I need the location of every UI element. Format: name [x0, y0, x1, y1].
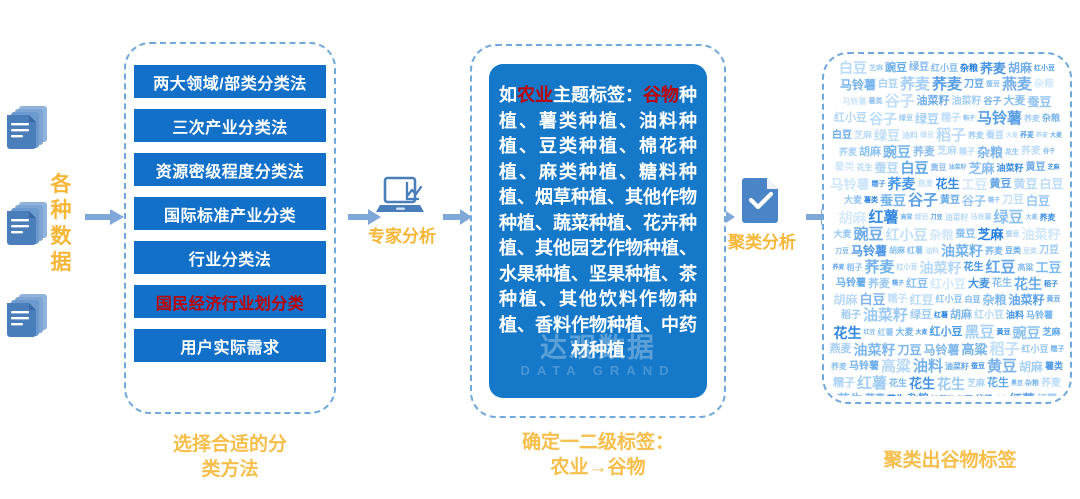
cloud-word: 黄豆 [987, 358, 1017, 375]
cloud-word: 绿豆 [914, 213, 928, 222]
cloud-word: 胡麻 [889, 246, 905, 256]
cloud-word: 油菜籽 [941, 243, 983, 259]
cloud-word: 豌豆 [1013, 325, 1041, 341]
cloud-word: 花生 [992, 278, 1012, 290]
label-text-segment-1: 农业 [517, 85, 553, 105]
cloud-word: 胡麻 [1019, 360, 1043, 374]
cloud-word: 大麦 [844, 195, 862, 206]
cloud-word: 油菜籽 [948, 164, 966, 172]
diagram-canvas: 各 种 数 据 两大领域/部类分类法三次产业分类法资源密级程度分类法国际标准产业… [0, 0, 1080, 499]
cloud-word: 谷子 [869, 111, 897, 127]
cloud-word: 黄豆 [930, 163, 946, 173]
cloud-word: 花生 [833, 325, 861, 341]
cloud-word: 糯子 [887, 294, 907, 306]
cloud-word: 刀豆 [930, 214, 942, 222]
cloud-word: 马铃薯 [1026, 310, 1053, 321]
cloud-word: 大麦 [1050, 132, 1062, 140]
cloud-word: 花生 [856, 163, 872, 173]
left-panel-caption: 选择合适的分类方法 [120, 432, 340, 482]
cloud-word: 红小豆 [834, 112, 867, 125]
label-text-segment-3: 谷物 [643, 85, 679, 105]
cloud-word: 谷子 [1043, 148, 1055, 156]
cloud-word: 绿豆 [920, 131, 934, 140]
cloud-word: 白豆 [839, 60, 867, 76]
cloud-word: 荞麦 [968, 131, 984, 141]
cloud-word: 芝麻 [978, 227, 1004, 242]
method-button-label: 资源密级程度分类法 [156, 158, 305, 182]
cloud-word: 糯子 [941, 113, 961, 125]
cloud-word: 糯子 [988, 197, 1000, 205]
cloud-word: 燕麦 [1002, 76, 1032, 93]
clustering-analysis-step: 聚类分析 [722, 176, 802, 253]
cloud-word: 刀豆 [964, 79, 984, 91]
cloud-word: 红薯 [907, 246, 923, 256]
cloud-word: 花生 [935, 177, 959, 191]
caption-line: 确定一二级标签： [522, 432, 674, 453]
cloud-word: 薯类 [868, 97, 882, 106]
cloud-word: 大麦 [895, 327, 913, 338]
cloud-word: 白豆 [965, 295, 981, 305]
cloud-word: 马铃薯 [977, 110, 1022, 127]
cloud-word: 大麦 [1004, 95, 1026, 108]
cloud-word: 马铃薯 [971, 213, 992, 222]
cloud-word: 黄豆 [990, 178, 1012, 191]
cloud-word: 刀豆 [1039, 245, 1059, 257]
cloud-word: 花生 [837, 392, 863, 396]
cloud-word: 红小豆 [885, 227, 927, 243]
cloud-word: 蚕豆 [986, 130, 1004, 141]
cloud-word: 白豆 [1040, 177, 1064, 191]
cloud-word: 杂粮 [1042, 113, 1060, 124]
cloud-word: 荞麦 [868, 278, 890, 291]
label-text-segment-2: 主题标签： [553, 85, 643, 105]
caption-line: 类方法 [201, 459, 258, 480]
cloud-word: 大麦 [1026, 214, 1038, 222]
method-button-6[interactable]: 用户实际需求 [134, 329, 326, 362]
cloud-word: 花生 [889, 378, 907, 389]
method-button-label: 行业分类法 [189, 246, 272, 270]
cloud-word: 燕麦 [917, 179, 933, 189]
cloud-word: 豌豆 [883, 144, 911, 160]
cloud-word: 红小豆 [1022, 344, 1049, 355]
cloud-word: 薯类 [864, 196, 878, 205]
method-button-label: 国际标准产业分类 [164, 202, 296, 226]
cloud-word: 胡麻 [859, 146, 881, 159]
flow-arrow-icon [443, 207, 473, 227]
cloud-word: 红薯 [857, 375, 887, 392]
cloud-word: 花生 [909, 376, 935, 391]
cloud-word: 油菜籽 [945, 213, 969, 223]
cloud-word: 红小豆 [897, 263, 918, 272]
cloud-word: 马铃薯 [851, 244, 887, 258]
cloud-word: 荞麦 [839, 147, 857, 158]
method-button-5[interactable]: 国民经济行业划分类 [134, 285, 326, 318]
cloud-word: 红薯 [868, 209, 898, 226]
cloud-word: 糯子 [833, 377, 855, 390]
cloud-word: 芝麻 [854, 130, 872, 141]
cloud-word: 荞麦 [1036, 132, 1048, 140]
cloud-word: 蚕豆 [874, 161, 898, 175]
cloud-word: 荞麦 [831, 362, 847, 372]
method-button-4[interactable]: 行业分类法 [134, 241, 326, 274]
cloud-word: 花生 [1005, 148, 1019, 157]
cloud-word: 稻子 [963, 115, 975, 123]
laptop-analytics-icon [374, 176, 430, 218]
source-label-char: 数 [44, 224, 78, 250]
cloud-word: 豌豆 [853, 226, 883, 243]
method-button-0[interactable]: 两大领域/部类分类法 [134, 65, 326, 98]
cloud-word: 黑豆 [965, 324, 995, 341]
cloud-word: 芝麻 [968, 161, 994, 176]
source-data-label: 各 种 数 据 [44, 172, 78, 276]
cloud-word: 稻子 [1044, 280, 1058, 289]
source-label-char: 各 [44, 172, 78, 198]
method-button-label: 三次产业分类法 [172, 114, 288, 138]
cloud-word: 糯子 [871, 180, 885, 189]
cloud-word: 芝麻 [1048, 164, 1060, 172]
cloud-word: 油料 [925, 247, 939, 256]
label-text-segment-0: 如 [499, 85, 517, 105]
cloud-word: 杂粮 [1025, 379, 1039, 388]
cloud-word: 红小豆 [931, 63, 958, 74]
cloud-word: 红薯 [1037, 394, 1057, 397]
cloud-word: 大麦 [1006, 132, 1018, 140]
method-button-1[interactable]: 三次产业分类法 [134, 109, 326, 142]
cloud-word: 绿豆 [910, 309, 932, 322]
cloud-word: 油菜籽 [931, 395, 955, 397]
cloud-word: 红薯 [877, 328, 893, 338]
cloud-word: 白豆 [859, 292, 885, 307]
source-label-char: 种 [44, 198, 78, 224]
cloud-word: 稻子 [936, 127, 966, 144]
cloud-word: 胡麻 [833, 293, 857, 307]
cloud-word: 荞麦 [985, 246, 1003, 257]
cloud-word: 工豆 [961, 177, 987, 192]
cloud-word: 红小豆 [1034, 64, 1055, 73]
cloud-word: 绿豆 [899, 114, 913, 123]
cloud-word: 油菜籽 [1022, 227, 1061, 242]
cloud-word: 谷子 [983, 96, 1001, 107]
cloud-word: 芝麻 [937, 146, 957, 158]
documents-stack-icon [5, 292, 51, 342]
cloud-word: 芝麻 [967, 378, 985, 389]
cloud-word: 胡麻 [950, 309, 972, 322]
cloud-word: 红薯 [957, 395, 973, 397]
cloud-word: 高粱 [1018, 263, 1034, 273]
cloud-word: 刀豆 [835, 247, 849, 256]
cloud-word: 高粱 [961, 342, 987, 357]
cloud-word: 绿豆 [874, 128, 900, 143]
method-button-2[interactable]: 资源密级程度分类法 [134, 153, 326, 186]
cloud-word: 黄豆 [1047, 295, 1061, 304]
cloud-word: 荞麦 [1021, 146, 1041, 158]
method-button-list: 两大领域/部类分类法三次产业分类法资源密级程度分类法国际标准产业分类行业分类法国… [134, 65, 326, 373]
cloud-word: 荞麦 [864, 259, 894, 276]
cloud-word: 糯子 [1051, 345, 1065, 354]
cloud-word: 蚕豆 [971, 362, 985, 371]
cloud-word: 花生 [1014, 276, 1042, 292]
cloud-word: 荞麦 [832, 264, 844, 272]
cloud-word: 蚕豆 [880, 193, 906, 208]
cloud-word: 马铃薯 [836, 278, 866, 290]
cloud-word: 油菜籽 [997, 163, 1024, 174]
cloud-word: 高粱 [881, 358, 911, 375]
label-card: 如农业主题标签：谷物种植、薯类种植、油料种植、豆类种植、棉花种植、麻类种植、糖料… [489, 64, 707, 398]
cloud-word: 胡麻 [1008, 61, 1032, 75]
method-button-label: 用户实际需求 [180, 334, 279, 358]
cloud-word: 杂粮 [907, 393, 929, 396]
flow-arrow-icon [85, 207, 125, 227]
cloud-word: 绿豆 [915, 112, 939, 126]
documents-stack-icon [5, 104, 51, 154]
caption-line: 选择合适的分 [173, 434, 287, 455]
cloud-word: 红薯 [934, 311, 948, 320]
cloud-word: 红小豆 [974, 310, 1004, 322]
cloud-word: 花生 [887, 394, 905, 396]
cloud-word: 糯子 [959, 147, 975, 157]
method-button-label: 国民经济行业划分类 [156, 290, 305, 314]
cloud-word: 谷子 [908, 192, 938, 209]
cloud-word: 花生 [937, 376, 965, 392]
cloud-word: 黄豆 [997, 328, 1011, 337]
cloud-word: 谷子 [962, 194, 986, 208]
cloud-word: 油菜籽 [1009, 293, 1045, 307]
cloud-word: 红小豆 [930, 326, 963, 339]
cloud-word: 杂粮 [977, 145, 1003, 160]
cloud-word: 蚕豆 [956, 229, 976, 241]
cloud-word: 油菜籽 [920, 260, 962, 276]
cloud-word: 油料 [913, 358, 943, 375]
cloud-word: 油料 [1006, 310, 1024, 321]
cloud-word: 谷子 [975, 394, 993, 396]
cloud-word: 薯类 [834, 162, 854, 174]
clustering-analysis-label: 聚类分析 [722, 228, 802, 253]
cloud-word: 荞麦 [913, 146, 935, 159]
cloud-word: 薯类 [1045, 361, 1063, 372]
cloud-word: 油菜籽 [945, 362, 969, 372]
cloud-word: 刀豆 [897, 343, 921, 357]
expert-analysis-label: 专家分析 [362, 222, 442, 247]
cloud-word: 大麦 [915, 329, 927, 337]
cloud-word: 蚕豆 [986, 80, 1000, 89]
cloud-word: 马铃薯 [849, 361, 879, 373]
cloud-word: 稻子 [846, 263, 862, 273]
method-button-3[interactable]: 国际标准产业分类 [134, 197, 326, 230]
cloud-word: 荞麦 [1040, 213, 1056, 223]
cloud-word: 稻子 [990, 341, 1020, 358]
cloud-word: 花生 [964, 262, 984, 274]
cloud-word: 荞麦 [932, 76, 962, 93]
cloud-word: 大麦 [968, 278, 990, 291]
expert-analysis-step: 专家分析 [362, 176, 442, 247]
cloud-word: 荞麦 [1020, 131, 1034, 140]
cloud-word: 红豆 [986, 259, 1016, 276]
source-label-char: 据 [44, 250, 78, 276]
cloud-word: 荞麦 [887, 176, 915, 192]
cloud-word: 芝麻 [995, 396, 1007, 397]
cloud-word: 荞麦 [1041, 378, 1061, 390]
cloud-word: 荞麦 [980, 61, 1006, 76]
cloud-word: 黄豆 [940, 195, 960, 207]
cloud-word: 红小豆 [930, 277, 966, 291]
cloud-word: 工豆 [1036, 260, 1062, 275]
document-check-icon [740, 176, 784, 224]
cloud-word: 黑豆 [1011, 380, 1023, 388]
cloud-word: 油菜籽 [951, 96, 981, 108]
cloud-word: 高粱 [900, 214, 912, 222]
cloud-word: 红豆 [863, 329, 875, 337]
cloud-word: 荞麦 [900, 76, 930, 93]
cloud-word: 白豆 [900, 160, 928, 176]
method-button-label: 两大领域/部类分类法 [153, 70, 306, 94]
cloud-word: 杂粮 [1034, 79, 1054, 91]
label-card-text: 如农业主题标签：谷物种植、薯类种植、油料种植、豆类种植、棉花种植、麻类种植、糖料… [499, 83, 697, 364]
cloud-word: 白豆 [878, 79, 898, 91]
cloud-word: 油菜籽 [863, 307, 908, 324]
cloud-word: 豆类 [1005, 246, 1021, 256]
cloud-word: 豆类 [1023, 247, 1037, 256]
cloud-word: 豌豆 [885, 62, 907, 75]
cloud-word: 红薯 [1009, 392, 1035, 396]
cloud-word: 稻子 [841, 310, 861, 322]
cloud-word: 刀豆 [1002, 194, 1024, 207]
cloud-word: 蚕豆 [1006, 230, 1020, 239]
cloud-word: 黄豆 [1026, 162, 1046, 174]
cloud-word: 荞麦 [1024, 114, 1040, 124]
right-panel-caption: 聚类出谷物标签 [840, 448, 1060, 473]
cloud-word: 油料 [902, 131, 918, 141]
cloud-word: 蚕豆 [1028, 95, 1052, 109]
cloud-word: 绿豆 [909, 62, 929, 74]
cloud-word: 马铃薯 [842, 97, 866, 107]
label-text-segment-4: 种植、薯类种植、油料种植、豆类种植、棉花种植、麻类种植、糖料种植、烟草种植、其他… [499, 85, 697, 360]
caption-line: 农业→谷物 [550, 457, 645, 478]
cloud-word: 油菜籽 [916, 95, 949, 108]
cloud-word: 芝麻 [869, 64, 883, 73]
cloud-word: 绿豆 [994, 209, 1024, 226]
cloud-word: 红小豆 [936, 294, 963, 305]
cloud-word: 谷子 [884, 93, 914, 110]
cloud-word: 花生 [987, 377, 1009, 390]
watermark-subtext: DATA GRAND [489, 363, 707, 378]
cloud-word: 胡麻 [838, 210, 866, 226]
cloud-word: 糯子 [892, 280, 904, 288]
cloud-word: 芝麻 [1043, 327, 1061, 338]
cloud-word: 黄豆 [1014, 177, 1038, 191]
cloud-word: 大麦 [833, 229, 851, 240]
cloud-word: 荞麦 [865, 394, 885, 397]
cloud-word: 马铃薯 [830, 177, 869, 192]
cloud-word: 红豆 [906, 278, 928, 291]
cloud-word: 马铃薯 [923, 343, 959, 357]
grain-word-cloud: 白豆芝麻豌豆绿豆红小豆杂粮荞麦胡麻红小豆马铃薯白豆荞麦荞麦刀豆蚕豆燕麦杂粮马铃薯… [828, 60, 1066, 396]
cloud-word: 白豆 [1026, 194, 1050, 208]
cloud-word: 杂粮 [983, 293, 1007, 307]
cloud-word: 杂粮 [960, 63, 978, 74]
cloud-word: 红豆 [909, 293, 933, 307]
cloud-word: 燕麦 [829, 343, 851, 356]
mid-panel-caption: 确定一二级标签：农业→谷物 [470, 430, 726, 480]
cloud-word: 马铃薯 [840, 78, 876, 92]
cloud-word: 杂粮 [929, 228, 953, 242]
cloud-word: 白豆 [832, 130, 852, 142]
cloud-word: 油菜籽 [853, 342, 895, 358]
